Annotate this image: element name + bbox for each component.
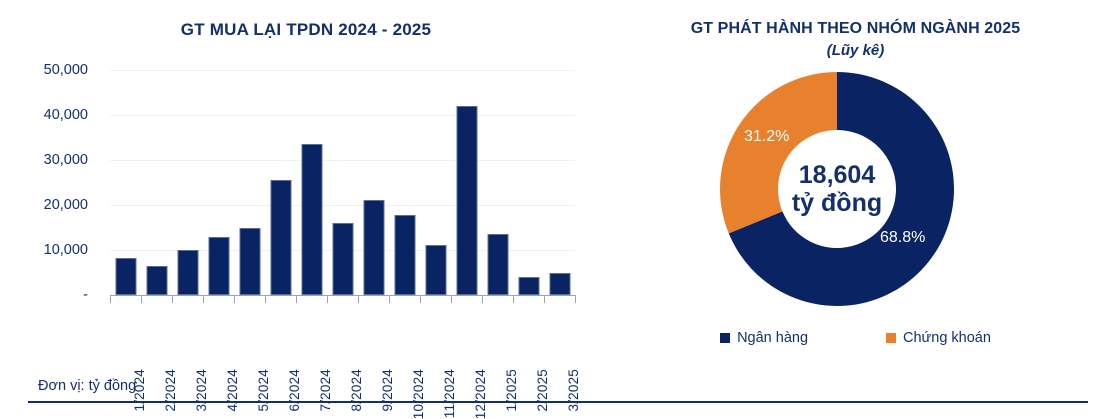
x-axis-tick-label: 2/2024 (163, 369, 178, 412)
report-chart-page: GT MUA LẠI TPDN 2024 - 2025 50,000 40,00… (0, 0, 1099, 410)
donut-chart-panel: GT PHÁT HÀNH THEO NHÓM NGÀNH 2025 (Lũy k… (612, 0, 1099, 372)
x-axis-ticks (110, 296, 576, 303)
bar-slot (513, 70, 544, 295)
unit-note: Đơn vị: tỷ đồng (38, 378, 136, 394)
x-axis-tick (141, 296, 142, 303)
y-axis-tick-label: 40,000 (44, 107, 88, 123)
bar[interactable] (301, 144, 322, 295)
bar[interactable] (518, 277, 539, 295)
y-axis-labels: 50,000 40,000 30,000 20,000 10,000 - (0, 70, 100, 295)
bar[interactable] (270, 180, 291, 295)
bar[interactable] (177, 250, 198, 295)
y-axis-tick-label: 20,000 (44, 197, 88, 213)
x-axis-tick-label: 8/2024 (349, 369, 364, 412)
x-axis-tick-label: 5/2024 (256, 369, 271, 412)
x-axis-tick-label: 2/2025 (535, 369, 550, 412)
bar[interactable] (146, 266, 167, 295)
bar-chart-panel: GT MUA LẠI TPDN 2024 - 2025 50,000 40,00… (0, 0, 612, 372)
x-axis-tick-label: 7/2024 (318, 369, 333, 412)
legend-swatch-icon (720, 333, 730, 343)
bar-slot (234, 70, 265, 295)
bar[interactable] (332, 223, 353, 295)
donut-svg (720, 72, 954, 306)
x-axis-tick-label: 11/2024 (442, 369, 457, 418)
donut-legend: Ngân hàng Chứng khoán (612, 330, 1099, 346)
x-axis-tick-label: 6/2024 (287, 369, 302, 412)
x-axis-tick (296, 296, 297, 303)
bar[interactable] (208, 237, 229, 296)
bar[interactable] (425, 245, 446, 295)
x-axis-tick (327, 296, 328, 303)
donut-slice-label-ngan-hang: 68.8% (880, 229, 925, 247)
bar-slot (327, 70, 358, 295)
donut-slice[interactable] (720, 72, 837, 233)
bar[interactable] (363, 200, 384, 295)
donut-chart-subtitle: (Lũy kê) (612, 42, 1099, 59)
donut-graphic: 31.2% 68.8% 18,604 tỷ đồng (720, 72, 954, 306)
x-axis-tick (358, 296, 359, 303)
x-axis-tick (172, 296, 173, 303)
bar-series (110, 70, 575, 295)
x-axis-tick-label: 9/2024 (380, 369, 395, 412)
y-axis-tick-label: 30,000 (44, 152, 88, 168)
donut-chart-title: GT PHÁT HÀNH THEO NHÓM NGÀNH 2025 (612, 20, 1099, 38)
x-axis-tick (234, 296, 235, 303)
y-axis-tick-label: - (83, 287, 88, 303)
bar-slot (358, 70, 389, 295)
x-axis-tick (575, 296, 576, 303)
x-axis-tick (110, 296, 111, 303)
bar-slot (420, 70, 451, 295)
footer-divider (28, 401, 1088, 403)
bar[interactable] (456, 106, 477, 295)
legend-swatch-icon (886, 333, 896, 343)
bar[interactable] (394, 215, 415, 295)
legend-item-ngan-hang[interactable]: Ngân hàng (720, 330, 808, 346)
x-axis-tick-label: 3/2024 (194, 369, 209, 412)
bar-slot (389, 70, 420, 295)
x-axis-tick-label: 12/2024 (473, 369, 488, 419)
bar-slot (172, 70, 203, 295)
bar-slot (110, 70, 141, 295)
x-axis-tick-label: 10/2024 (411, 369, 426, 419)
bar-slot (482, 70, 513, 295)
legend-label: Chứng khoán (903, 330, 991, 346)
bar-slot (203, 70, 234, 295)
y-axis-tick-label: 10,000 (44, 242, 88, 258)
bar-slot (544, 70, 575, 295)
bar-slot (451, 70, 482, 295)
x-axis-tick (265, 296, 266, 303)
x-axis-tick-label: 1/2025 (504, 369, 519, 412)
legend-label: Ngân hàng (737, 330, 808, 346)
x-axis-tick (420, 296, 421, 303)
x-axis-tick (451, 296, 452, 303)
bar[interactable] (239, 228, 260, 295)
bar-slot (296, 70, 327, 295)
x-axis-tick (482, 296, 483, 303)
bar[interactable] (487, 234, 508, 295)
x-axis-tick (389, 296, 390, 303)
y-axis-tick-label: 50,000 (44, 62, 88, 78)
bar-slot (141, 70, 172, 295)
bar-chart-title: GT MUA LẠI TPDN 2024 - 2025 (0, 20, 612, 40)
bar-slot (265, 70, 296, 295)
x-axis-tick-label: 3/2025 (566, 369, 581, 412)
x-axis-labels: 1/20242/20243/20244/20245/20246/20247/20… (110, 305, 576, 373)
donut-slice-label-chung-khoan: 31.2% (744, 128, 789, 146)
x-axis-tick (544, 296, 545, 303)
legend-item-chung-khoan[interactable]: Chứng khoán (886, 330, 991, 346)
bar[interactable] (549, 273, 570, 296)
x-axis-tick-label: 4/2024 (225, 369, 240, 412)
x-axis-tick (203, 296, 204, 303)
bar[interactable] (115, 258, 136, 295)
x-axis-tick (513, 296, 514, 303)
